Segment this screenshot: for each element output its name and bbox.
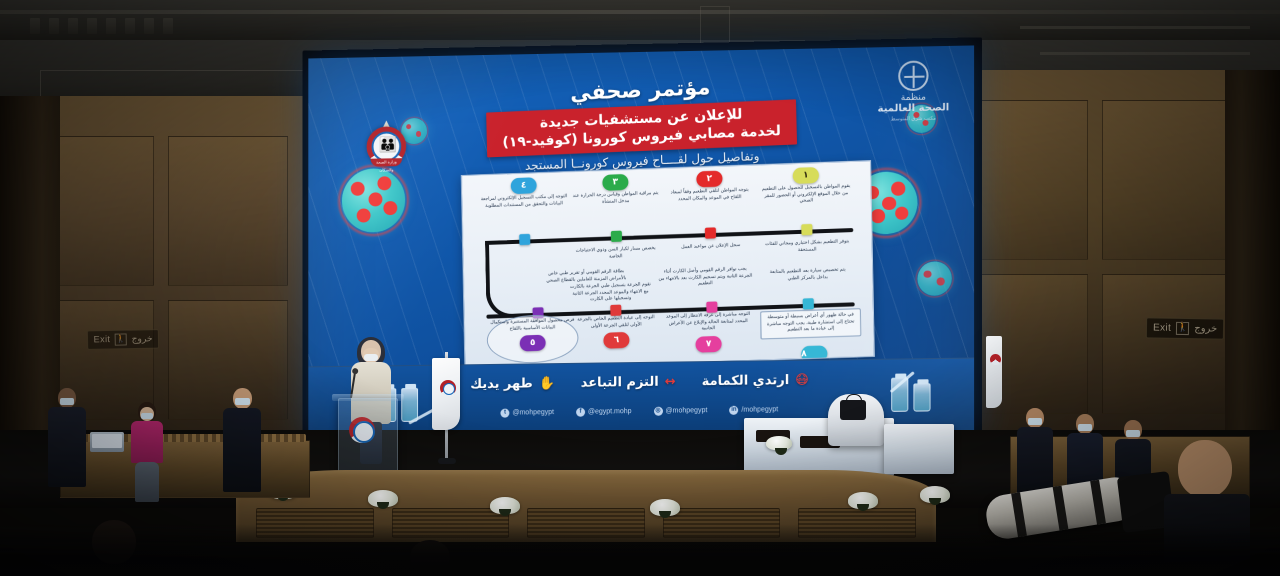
headline-block: مؤتمر صحفي للإعلان عن مستشفيات جديدة لخد…	[456, 70, 828, 178]
exit-label-en: Exit	[1153, 322, 1171, 333]
face-mask-icon	[1028, 418, 1042, 425]
laptop	[90, 432, 124, 452]
flow-note-7: تقوم الجرعة بتسجيل طبي الجرعة بالكارت مع…	[563, 279, 657, 308]
facebook-icon: f	[576, 408, 585, 417]
slogan-wear-mask: 😷 ارتدي الكمامة	[702, 373, 809, 389]
flow-node-6	[610, 305, 621, 316]
instagram-icon: ◎	[654, 407, 663, 416]
twitter-icon: t	[501, 409, 510, 418]
slogan-text-1: ارتدي الكمامة	[702, 373, 790, 389]
exit-label-en: Exit	[93, 335, 110, 345]
who-line3: مكتب شرق المتوسط	[865, 115, 962, 123]
flow-note-2: سجل الإعلان عن مواعيد العمل	[663, 239, 759, 255]
step-badge-2: ٢	[696, 170, 722, 187]
handle-instagram[interactable]: ◎ @mohpegypt	[654, 406, 708, 416]
flow-track-curve	[485, 239, 538, 319]
step-text-4: التوجه إلى مكتب التسجيل الإلكتروني لمراج…	[480, 194, 568, 210]
flow-note-6: يجب توافر الرقم القومي وأصل الكارت أثناء…	[653, 263, 758, 293]
wall-molding-right-upper	[1020, 26, 1250, 29]
exit-label-ar: خروج	[1194, 323, 1217, 334]
hand-sanitizer-icon: ✋	[539, 377, 555, 390]
slogan-keep-distance: ↔ التزم التباعد	[581, 375, 676, 391]
flow-step-6: التوجه إلى عيادة التطعيم الخاص بالجرعة ا…	[572, 315, 661, 352]
handbag	[840, 400, 866, 420]
handle-text-twitter: @mohpegypt	[512, 409, 554, 416]
flow-node-2	[705, 227, 716, 238]
flow-step-4: ٤ التوجه إلى مكتب التسجيل الإلكتروني لمر…	[480, 176, 568, 210]
face-mask-icon	[1078, 424, 1092, 431]
flow-node-4	[519, 234, 530, 245]
flag-emblem-icon	[990, 354, 1001, 365]
step-badge-3: ٣	[602, 174, 628, 191]
step-badge-4: ٤	[511, 177, 537, 194]
draped-table-right	[884, 424, 954, 474]
flow-node-3	[611, 231, 622, 242]
flow-step-1: ١ يقوم المواطن بالتسجيل للحصول على التطع…	[761, 166, 850, 207]
step-badge-6: ٦	[603, 332, 629, 349]
step-text-1: يقوم المواطن بالتسجيل للحصول على التطعيم…	[762, 184, 851, 207]
moh-band-text: وزارة الصحة والسكان	[371, 158, 403, 167]
press-conference-scene: Exit 🚶 خروج Exit 🚶 خروج م	[0, 0, 1280, 576]
face-mask-icon	[141, 413, 153, 419]
flower-arrangement	[490, 497, 520, 514]
who-emblem-icon	[898, 60, 928, 91]
cornice-molding	[0, 10, 1280, 14]
dentil-molding	[30, 18, 550, 34]
flag-emblem-icon	[440, 380, 456, 396]
attendee-left-1	[48, 388, 88, 498]
social-distance-icon: ↔	[665, 376, 676, 389]
running-person-icon: 🚶	[1176, 322, 1189, 335]
flag-right-standing	[978, 336, 1008, 446]
step-text-5: فرص محصول الموافقة المستنيرة واستكمال ال…	[488, 318, 576, 334]
flag-cloth	[986, 336, 1002, 408]
flow-note-5: يتم تخصيص سيارة بعد التطعيم بالمتابعة بد…	[759, 264, 856, 287]
flow-step-2: ٢ يتوجه المواطن لتلقي التطعيم وفقاً لميع…	[665, 169, 754, 204]
flow-step-3: ٣ يتم مراقبة المواطن وقياس درجة الحرارة …	[571, 173, 659, 207]
slogan-text-2: التزم التباعد	[581, 375, 659, 391]
slogan-text-3: طهر يديك	[470, 376, 532, 392]
flower-arrangement	[368, 490, 398, 507]
handle-twitter[interactable]: t @mohpegypt	[501, 408, 554, 418]
exit-sign-right: Exit 🚶 خروج	[1146, 317, 1225, 339]
linkedin-icon: in	[729, 406, 738, 415]
led-presentation-screen: منظمة الصحة العالمية مكتب شرق المتوسط ▲ …	[308, 45, 974, 439]
flower-arrangement	[848, 492, 878, 509]
face-mask-icon	[235, 398, 250, 405]
head	[1178, 440, 1232, 498]
flow-note-3: يخصص مسار لكبار السن وذوي الاحتياجات الخ…	[569, 243, 663, 266]
handle-linkedin[interactable]: in /mohpegypt	[729, 405, 778, 415]
flag-base	[438, 458, 456, 464]
legs	[135, 462, 159, 502]
attendee-left-man-suit	[222, 388, 262, 498]
flow-step-8-note: في حالة ظهور أي أعراض بسيطة أو متوسطة تح…	[760, 308, 861, 339]
exit-sign-left: Exit 🚶 خروج	[87, 329, 159, 350]
handle-text-instagram: @mohpegypt	[666, 407, 708, 415]
foreground-shadow	[0, 524, 1280, 576]
handle-text-facebook: @egypt.mohp	[588, 408, 632, 416]
coronavirus-icon	[342, 168, 405, 233]
face-mask-icon	[1126, 430, 1140, 437]
who-line2: الصحة العالمية	[865, 102, 962, 116]
flag-cloth	[432, 358, 460, 430]
body	[223, 408, 261, 492]
who-logo: منظمة الصحة العالمية مكتب شرق المتوسط	[865, 60, 962, 123]
wall-molding-right-lower	[1040, 52, 1250, 55]
ministry-flag	[430, 352, 464, 472]
step-badge-7: ٧	[695, 336, 721, 353]
step-text-6: التوجه إلى عيادة التطعيم الخاص بالجرعة ا…	[572, 315, 660, 331]
flow-node-8	[803, 298, 814, 309]
flow-note-1: يتوفر التطعيم بشكل اختياري ومجاني للفئات…	[759, 236, 856, 259]
exit-label-ar: خروج	[131, 334, 152, 344]
handle-text-linkedin: /mohpegypt	[741, 406, 778, 413]
coronavirus-icon	[917, 261, 951, 296]
flow-step-7: التوجه مباشرة إلى غرفة الانتظار إلى المو…	[664, 312, 753, 356]
running-person-icon: 🚶	[115, 333, 127, 345]
flower-arrangement	[650, 499, 680, 516]
step-text-2: يتوجه المواطن لتلقي التطعيم وفقاً لميعاد…	[666, 187, 754, 203]
step-badge-5: ٥	[520, 335, 546, 352]
face-mask-icon: 😷	[795, 374, 809, 387]
face-mask-icon	[60, 398, 74, 405]
vaccine-vials-icon-right	[885, 367, 944, 412]
step-text-7: التوجه مباشرة إلى غرفة الانتظار إلى المو…	[664, 312, 753, 335]
flow-step-5: فرص محصول الموافقة المستنيرة واستكمال ال…	[488, 318, 576, 355]
step-text-3: يتم مراقبة المواطن وقياس درجة الحرارة عن…	[572, 191, 660, 207]
attendee-left-woman-pink	[128, 402, 166, 500]
handle-facebook[interactable]: f @egypt.mohp	[576, 407, 632, 417]
vaccination-flow-infographic: ١ يقوم المواطن بالتسجيل للحصول على التطع…	[461, 160, 875, 370]
face-mask-icon	[364, 354, 378, 361]
slogan-sanitize-hands: ✋ طهر يديك	[470, 376, 555, 392]
family-figure-icon: 👪	[378, 137, 394, 155]
body	[131, 421, 163, 463]
moh-emblem-icon: ▲ 👪 وزارة الصحة والسكان	[364, 118, 410, 169]
step-badge-1: ١	[793, 167, 819, 184]
flow-node-7	[706, 301, 717, 312]
flower-arrangement	[920, 486, 950, 503]
flower-arrangement-table	[766, 436, 792, 450]
body	[48, 407, 86, 487]
podium-emblem-icon	[349, 417, 375, 443]
flow-node-1	[801, 224, 812, 235]
